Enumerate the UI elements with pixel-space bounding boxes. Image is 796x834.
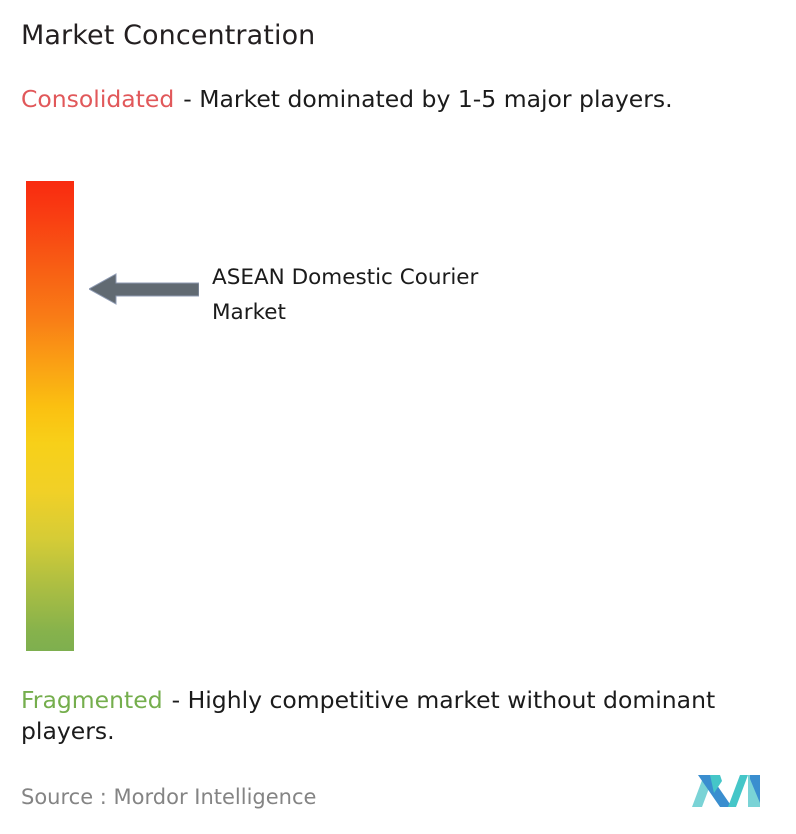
concentration-gradient-bar xyxy=(26,181,74,651)
left-arrow-icon xyxy=(89,274,199,304)
market-callout-label-line2: Market xyxy=(212,295,612,330)
legend-fragmented-keyword: Fragmented xyxy=(21,686,163,714)
source-attribution: Source : Mordor Intelligence xyxy=(21,782,316,812)
market-concentration-infographic: Market Concentration Consolidated- Marke… xyxy=(0,0,796,834)
legend-consolidated-keyword: Consolidated xyxy=(21,85,174,113)
legend-consolidated-description: - Market dominated by 1-5 major players. xyxy=(183,85,672,113)
legend-consolidated: Consolidated- Market dominated by 1-5 ma… xyxy=(21,84,781,115)
legend-fragmented: Fragmented- Highly competitive market wi… xyxy=(21,685,796,747)
page-title: Market Concentration xyxy=(21,19,315,53)
market-pointer-arrow xyxy=(89,272,199,306)
market-callout-label-line1: ASEAN Domestic Courier xyxy=(212,260,612,295)
market-callout-label: ASEAN Domestic Courier Market xyxy=(212,260,612,330)
mordor-intelligence-logo-icon xyxy=(690,769,776,811)
